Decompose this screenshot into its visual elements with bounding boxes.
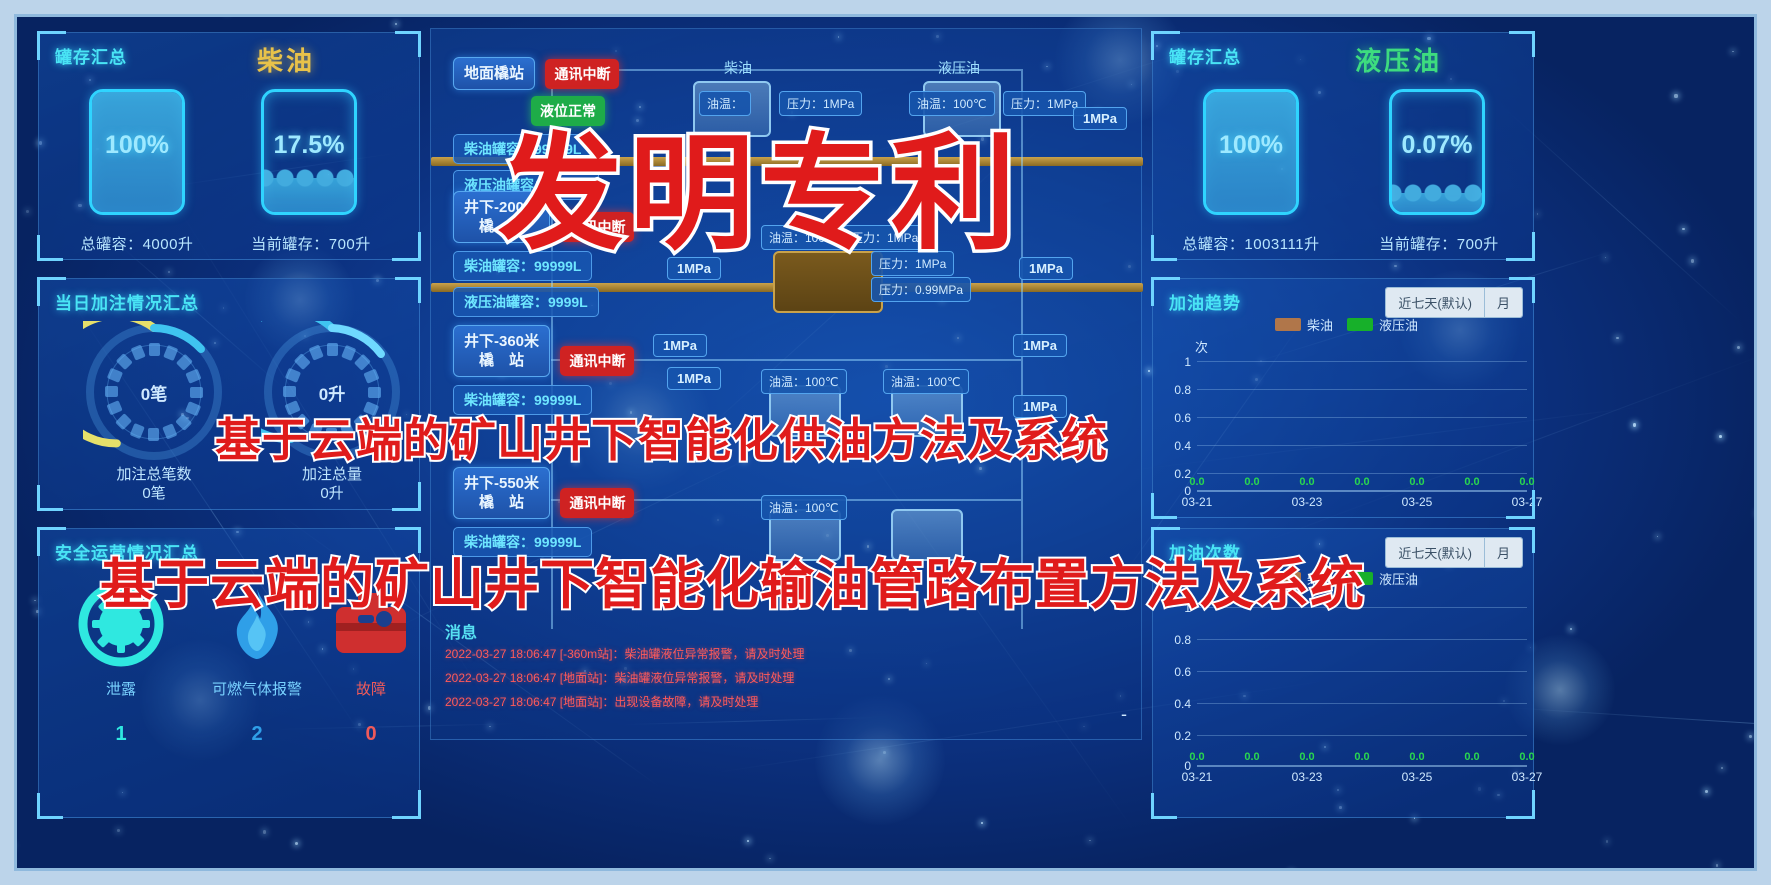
particle <box>883 751 886 754</box>
watermark-patent-line1: 基于云端的矿山井下智能化供油方法及系统 <box>215 404 1108 470</box>
tank-current-caption-diesel: 当前罐存：700升 <box>235 233 387 254</box>
legend-swatch <box>1275 318 1301 331</box>
station-name: 井下-550米 橇 站 <box>453 467 550 519</box>
zoom-out-button[interactable]: - <box>1121 704 1127 725</box>
gridline <box>1197 703 1527 704</box>
particle <box>1605 257 1606 258</box>
message-line: 2022-03-27 18:06:47 [地面站]：柴油罐液位异常报警，请及时处… <box>445 669 794 686</box>
station-name: 地面橇站 <box>453 57 535 90</box>
particle <box>1089 840 1090 841</box>
safety-value: 0 <box>323 723 419 746</box>
gridline <box>1197 671 1527 672</box>
particle <box>1716 864 1719 867</box>
range-option-month[interactable]: 月 <box>1484 538 1522 567</box>
ytick: 0.6 <box>1161 411 1191 425</box>
caption-line2: 0升 <box>261 484 403 503</box>
data-point-label: 0.0 <box>1183 751 1211 763</box>
gridline <box>1197 361 1527 362</box>
data-point-label: 0.0 <box>1403 751 1431 763</box>
station-status-badge: 通讯中断 <box>560 346 634 376</box>
particle <box>747 840 749 842</box>
gauge-caption-refuel-count: 加注总笔数 0笔 <box>83 465 225 503</box>
particle <box>117 829 120 832</box>
particle <box>1705 790 1708 793</box>
ytick: 0.4 <box>1161 697 1191 711</box>
gauge-refuel-count: 0笔 <box>83 321 225 463</box>
legend-label: 液压油 <box>1379 569 1418 588</box>
x-axis-tick: 03-27 <box>1500 770 1554 784</box>
dashboard-root: 罐存汇总 柴油 100% 总罐容：4000升 17.5% 当前罐存：700升 当… <box>0 0 1771 885</box>
chart-title-0: 加油趋势 <box>1169 289 1241 314</box>
panel-title: 当日加注情况汇总 <box>55 289 199 314</box>
station-name-line1: 井下-550米 <box>464 475 539 492</box>
panel-title: 罐存汇总 <box>1169 43 1241 68</box>
particle <box>26 210 29 213</box>
data-point-label: 0.0 <box>1458 751 1486 763</box>
data-point-label: 0.0 <box>1458 476 1486 488</box>
tank-total-pct-hydraulic: 100% <box>1203 131 1299 160</box>
watermark-patent-title: 发明专利 <box>498 92 1022 273</box>
label-product-diesel: 柴油 <box>717 55 759 81</box>
product-label-hydraulic: 液压油 <box>1355 41 1442 78</box>
gridline <box>1197 445 1527 446</box>
particle <box>1719 435 1722 438</box>
caption-line1: 加注总笔数 <box>83 465 225 484</box>
ytick: 0.8 <box>1161 633 1191 647</box>
particle <box>1757 512 1760 515</box>
particle <box>769 858 771 860</box>
tag-oil-temp-6: 油温：100℃ <box>761 495 847 520</box>
particle <box>1633 423 1636 426</box>
gridline <box>1197 417 1527 418</box>
particle <box>981 822 983 824</box>
particle <box>3 623 6 626</box>
gridline <box>1197 389 1527 390</box>
legend-item-diesel[interactable]: 柴油 <box>1275 315 1333 334</box>
station-name-line1: 井下-360米 <box>464 333 539 350</box>
ytick: 0.2 <box>1161 729 1191 743</box>
data-point-label: 0.0 <box>1293 476 1321 488</box>
station-status-badge: 通讯中断 <box>560 488 634 518</box>
panel-tank-summary-diesel: 罐存汇总 柴油 100% 总罐容：4000升 17.5% 当前罐存：700升 <box>38 32 420 260</box>
particle <box>1721 767 1723 769</box>
data-point-label: 0.0 <box>1348 751 1376 763</box>
light-beam <box>1506 707 1771 740</box>
pressure-label-2: 1MPa <box>1019 257 1073 280</box>
tank-total-caption-diesel: 总罐容：4000升 <box>61 233 213 254</box>
data-point-label: 0.0 <box>1403 476 1431 488</box>
particle <box>1749 735 1752 738</box>
pressure-label-6: 1MPa <box>1013 334 1067 357</box>
particle <box>1606 840 1609 843</box>
safety-value: 2 <box>187 723 327 746</box>
panel-chart-refuel-trend: 加油趋势 近七天(默认) 月 柴油 液压油 次 1 0.8 0.6 0.4 0.… <box>1152 278 1534 518</box>
x-axis-tick: 03-27 <box>1500 495 1554 509</box>
pressure-label-1: 1MPa <box>1073 107 1127 130</box>
particle <box>1148 370 1149 371</box>
safety-label: 可燃气体报警 <box>187 678 327 699</box>
chart-range-toolbar-1[interactable]: 近七天(默认) 月 <box>1385 537 1523 568</box>
panel-tank-summary-hydraulic: 罐存汇总 液压油 100% 总罐容：1003111升 0.07% 当前罐存：70… <box>1152 32 1534 260</box>
legend-swatch <box>1347 318 1373 331</box>
particle <box>1691 259 1694 262</box>
ytick: 0.8 <box>1161 383 1191 397</box>
particle <box>1290 872 1293 875</box>
data-point-label: 0.0 <box>1513 751 1541 763</box>
message-line: 2022-03-27 18:06:47 [-360m站]：柴油罐液位异常报警，请… <box>445 645 804 662</box>
range-option-week[interactable]: 近七天(默认) <box>1386 538 1484 567</box>
x-axis-tick: 03-23 <box>1280 495 1334 509</box>
particle <box>1394 265 1397 268</box>
pressure-label-5: 1MPa <box>667 367 721 390</box>
data-point-label: 0.0 <box>1183 476 1211 488</box>
gridline <box>1197 735 1527 736</box>
message-log-title: 消息 <box>445 619 477 643</box>
particle <box>395 23 397 25</box>
particle <box>295 842 298 845</box>
x-axis-tick: 03-21 <box>1170 495 1224 509</box>
legend-item-hydraulic[interactable]: 液压油 <box>1347 315 1418 334</box>
tank-total-caption-hydraulic: 总罐容：1003111升 <box>1161 233 1341 254</box>
safety-value: 1 <box>61 723 181 746</box>
chart-zero-axis-1 <box>1197 765 1527 767</box>
message-line: 2022-03-27 18:06:47 [地面站]：出现设备故障，请及时处理 <box>445 693 758 710</box>
caption-line2: 0笔 <box>83 484 225 503</box>
legend-label: 柴油 <box>1307 315 1333 334</box>
message-log: 消息 2022-03-27 18:06:47 [-360m站]：柴油罐液位异常报… <box>431 611 1143 741</box>
range-option-week[interactable]: 近七天(默认) <box>1386 288 1484 317</box>
gauge-caption-refuel-volume: 加注总量 0升 <box>261 465 403 503</box>
gauge-value: 0笔 <box>83 321 225 463</box>
label-product-hydraulic: 液压油 <box>931 55 987 81</box>
x-axis-tick: 03-25 <box>1390 495 1444 509</box>
station-status-badge: 通讯中断 <box>545 59 619 89</box>
x-axis-tick: 03-23 <box>1280 770 1334 784</box>
tag-oil-temp-5: 油温：100℃ <box>883 369 969 394</box>
ytick: 1 <box>1161 355 1191 369</box>
chart-legend-0: 柴油 液压油 <box>1275 315 1418 334</box>
particle <box>226 12 227 13</box>
ytick: 0.6 <box>1161 665 1191 679</box>
tag-pressure-5: 压力：0.99MPa <box>871 277 971 302</box>
chart-ylabel-0: 次 <box>1195 337 1208 356</box>
product-label-diesel: 柴油 <box>257 41 315 78</box>
particle <box>1570 628 1572 630</box>
ytick: 0.4 <box>1161 439 1191 453</box>
tank-current-pct-hydraulic: 0.07% <box>1383 131 1491 160</box>
tank-fill <box>1392 193 1482 212</box>
particle <box>1616 337 1619 340</box>
data-point-label: 0.0 <box>1348 476 1376 488</box>
particle <box>1674 94 1677 97</box>
station-name-line2: 橇 站 <box>479 352 524 369</box>
particle <box>1737 346 1740 349</box>
data-point-label: 0.0 <box>1238 751 1266 763</box>
gridline <box>1197 473 1527 474</box>
x-axis-tick: 03-25 <box>1390 770 1444 784</box>
gridline <box>1197 639 1527 640</box>
panel-refuel-today: 当日加注情况汇总 0笔 加注总笔数 0笔 0升 <box>38 278 420 510</box>
tank-fill <box>264 178 354 212</box>
data-point-label: 0.0 <box>1293 751 1321 763</box>
tank-current-caption-hydraulic: 当前罐存：700升 <box>1353 233 1525 254</box>
chart-range-toolbar-0[interactable]: 近七天(默认) 月 <box>1385 287 1523 318</box>
watermark-patent-line2: 基于云端的矿山井下智能化输油管路布置方法及系统 <box>100 540 1365 619</box>
tank-current-pct-diesel: 17.5% <box>261 131 357 160</box>
chart-zero-axis-0 <box>1197 490 1527 492</box>
station-name: 井下-360米 橇 站 <box>453 325 550 377</box>
particle <box>11 844 13 846</box>
particle <box>34 600 36 602</box>
particle <box>563 877 565 879</box>
particle <box>1213 875 1216 878</box>
particle <box>1682 228 1684 230</box>
station-cap-hydraulic: 液压油罐容：9999L <box>453 287 599 317</box>
data-point-label: 0.0 <box>1238 476 1266 488</box>
pressure-label-4: 1MPa <box>653 334 707 357</box>
x-axis-tick: 03-21 <box>1170 770 1224 784</box>
particle <box>263 830 266 833</box>
data-point-label: 0.0 <box>1513 476 1541 488</box>
safety-label: 故障 <box>323 678 419 699</box>
tag-oil-temp-4: 油温：100℃ <box>761 369 847 394</box>
tank-total-pct-diesel: 100% <box>89 131 185 160</box>
range-option-month[interactable]: 月 <box>1484 288 1522 317</box>
particle <box>1732 51 1734 53</box>
station-name-line2: 橇 站 <box>479 494 524 511</box>
legend-label: 液压油 <box>1379 315 1418 334</box>
particle <box>168 271 170 273</box>
particle <box>3 798 6 801</box>
safety-label: 泄露 <box>61 678 181 699</box>
particle <box>1657 536 1658 537</box>
station-minus360[interactable]: 井下-360米 橇 站 通讯中断 柴油罐容：99999L <box>453 325 634 415</box>
panel-title: 罐存汇总 <box>55 43 127 68</box>
particle <box>1537 213 1538 214</box>
